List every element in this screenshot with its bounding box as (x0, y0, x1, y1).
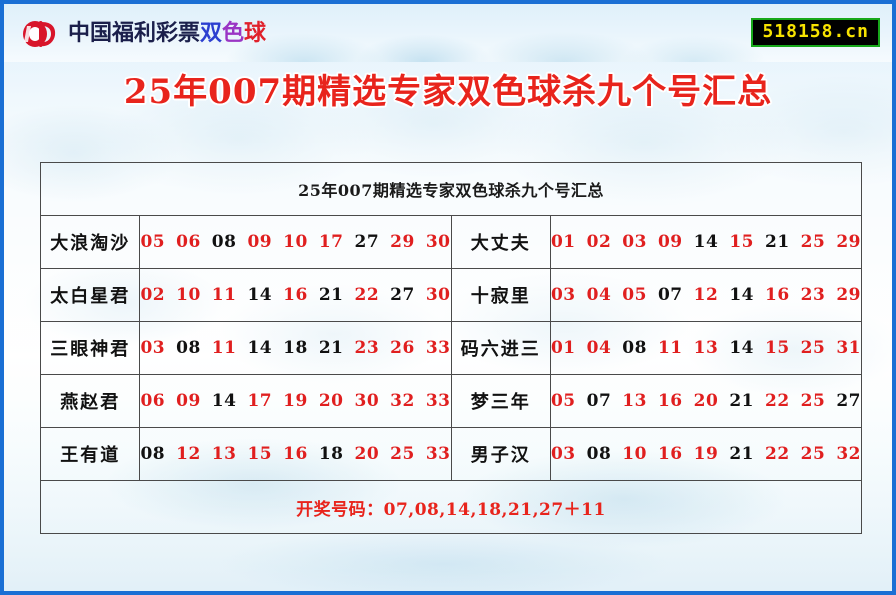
killed-number: 21 (319, 285, 344, 305)
number-list: 030405071214162329 (551, 285, 861, 305)
table-row: 三眼神君 030811141821232633 码六进三 01040811131… (41, 322, 862, 375)
killed-number: 23 (354, 338, 379, 358)
killed-number: 10 (622, 444, 647, 464)
killed-number: 20 (319, 391, 344, 411)
killed-numbers-cell: 050608091017272930 (140, 216, 451, 269)
expert-name: 大丈夫 (451, 216, 550, 269)
killed-number: 33 (426, 391, 451, 411)
killed-number: 18 (319, 444, 344, 464)
killed-numbers-cell: 010408111314152531 (550, 322, 861, 375)
table-row: 大浪淘沙 050608091017272930 大丈夫 010203091415… (41, 216, 862, 269)
killed-number: 21 (729, 444, 754, 464)
table-footer-row: 开奖号码：07,08,14,18,21,27＋11 (41, 481, 862, 534)
expert-name: 十寂里 (451, 269, 550, 322)
killed-number: 10 (283, 232, 308, 252)
killed-numbers-cell: 060914171920303233 (140, 375, 451, 428)
number-list: 021011141621222730 (140, 285, 450, 305)
killed-number: 02 (587, 232, 612, 252)
killed-number: 32 (836, 444, 861, 464)
china-welfare-lottery-emblem-icon (22, 18, 60, 50)
number-list: 010408111314152531 (551, 338, 861, 358)
killed-number: 05 (140, 232, 165, 252)
killed-number: 25 (801, 232, 826, 252)
killed-number: 16 (658, 444, 683, 464)
killed-numbers-cell: 021011141621222730 (140, 269, 451, 322)
killed-number: 20 (354, 444, 379, 464)
killed-number: 04 (587, 338, 612, 358)
forecast-table-body: 25年007期精选专家双色球杀九个号汇总 大浪淘沙 05060809101727… (41, 163, 862, 534)
killed-number: 32 (390, 391, 415, 411)
killed-number: 18 (283, 338, 308, 358)
killed-number: 27 (390, 285, 415, 305)
killed-number: 25 (801, 444, 826, 464)
killed-number: 22 (354, 285, 379, 305)
logo-text-se: 色 (222, 21, 244, 46)
number-list: 050713162021222527 (551, 391, 861, 411)
number-list: 081213151618202533 (140, 444, 450, 464)
table-row: 燕赵君 060914171920303233 梦三年 0507131620212… (41, 375, 862, 428)
number-list: 060914171920303233 (140, 391, 450, 411)
logo-text: 中国福利彩票双色球 (68, 23, 266, 45)
killed-numbers-cell: 030405071214162329 (550, 269, 861, 322)
site-logo[interactable]: 中国福利彩票双色球 (22, 18, 266, 50)
number-list: 030810161921222532 (551, 444, 861, 464)
killed-number: 25 (390, 444, 415, 464)
killed-number: 04 (587, 285, 612, 305)
logo-text-shuang: 双 (200, 21, 222, 46)
logo-text-qiu: 球 (244, 21, 266, 46)
killed-numbers-cell: 081213151618202533 (140, 428, 451, 481)
killed-number: 23 (801, 285, 826, 305)
table-row: 王有道 081213151618202533 男子汉 0308101619212… (41, 428, 862, 481)
expert-name: 大浪淘沙 (41, 216, 140, 269)
killed-number: 15 (765, 338, 790, 358)
killed-number: 08 (622, 338, 647, 358)
killed-number: 19 (694, 444, 719, 464)
killed-number: 16 (283, 285, 308, 305)
killed-number: 21 (319, 338, 344, 358)
killed-number: 27 (354, 232, 379, 252)
killed-number: 13 (694, 338, 719, 358)
killed-numbers-cell: 050713162021222527 (550, 375, 861, 428)
killed-number: 25 (801, 338, 826, 358)
page-root: 中国福利彩票双色球 518158.cn 25年007期精选专家双色球杀九个号汇总… (0, 0, 896, 595)
killed-number: 21 (765, 232, 790, 252)
killed-number: 33 (426, 338, 451, 358)
killed-number: 19 (283, 391, 308, 411)
killed-number: 11 (212, 285, 237, 305)
killed-number: 26 (390, 338, 415, 358)
killed-number: 31 (836, 338, 861, 358)
killed-number: 05 (622, 285, 647, 305)
killed-number: 06 (140, 391, 165, 411)
killed-number: 16 (283, 444, 308, 464)
killed-number: 07 (658, 285, 683, 305)
killed-number: 29 (836, 285, 861, 305)
killed-number: 14 (729, 285, 754, 305)
killed-number: 33 (426, 444, 451, 464)
expert-name: 三眼神君 (41, 322, 140, 375)
expert-name: 太白星君 (41, 269, 140, 322)
killed-number: 09 (247, 232, 272, 252)
killed-number: 20 (694, 391, 719, 411)
killed-numbers-cell: 030811141821232633 (140, 322, 451, 375)
killed-number: 22 (765, 444, 790, 464)
results-table-container: 25年007期精选专家双色球杀九个号汇总 大浪淘沙 05060809101727… (40, 162, 862, 534)
table-caption-row: 25年007期精选专家双色球杀九个号汇总 (41, 163, 862, 216)
site-url-badge[interactable]: 518158.cn (751, 18, 880, 47)
killed-number: 07 (587, 391, 612, 411)
killed-number: 14 (247, 285, 272, 305)
killed-number: 11 (658, 338, 683, 358)
expert-name: 码六进三 (451, 322, 550, 375)
killed-number: 08 (176, 338, 201, 358)
killed-number: 25 (801, 391, 826, 411)
killed-number: 29 (390, 232, 415, 252)
killed-number: 03 (140, 338, 165, 358)
expert-name: 王有道 (41, 428, 140, 481)
killed-number: 14 (694, 232, 719, 252)
forecast-table: 25年007期精选专家双色球杀九个号汇总 大浪淘沙 05060809101727… (40, 162, 862, 534)
killed-number: 17 (247, 391, 272, 411)
killed-number: 30 (426, 285, 451, 305)
killed-number: 16 (658, 391, 683, 411)
killed-number: 30 (426, 232, 451, 252)
logo-text-cn: 中国福利彩票 (68, 21, 200, 46)
killed-number: 13 (622, 391, 647, 411)
killed-number: 01 (551, 232, 576, 252)
killed-number: 01 (551, 338, 576, 358)
table-caption: 25年007期精选专家双色球杀九个号汇总 (41, 163, 862, 216)
killed-number: 22 (765, 391, 790, 411)
expert-name: 男子汉 (451, 428, 550, 481)
killed-number: 10 (176, 285, 201, 305)
expert-name: 梦三年 (451, 375, 550, 428)
number-list: 030811141821232633 (140, 338, 450, 358)
page-title: 25年007期精选专家双色球杀九个号汇总 (4, 64, 892, 113)
killed-number: 03 (551, 285, 576, 305)
killed-number: 08 (587, 444, 612, 464)
killed-number: 17 (319, 232, 344, 252)
killed-number: 13 (212, 444, 237, 464)
killed-number: 02 (140, 285, 165, 305)
killed-number: 14 (212, 391, 237, 411)
killed-number: 16 (765, 285, 790, 305)
killed-number: 11 (212, 338, 237, 358)
killed-numbers-cell: 030810161921222532 (550, 428, 861, 481)
killed-number: 15 (247, 444, 272, 464)
number-list: 010203091415212529 (551, 232, 861, 252)
killed-number: 03 (551, 444, 576, 464)
killed-number: 27 (836, 391, 861, 411)
killed-number: 09 (658, 232, 683, 252)
killed-number: 05 (551, 391, 576, 411)
killed-numbers-cell: 010203091415212529 (550, 216, 861, 269)
table-row: 太白星君 021011141621222730 十寂里 030405071214… (41, 269, 862, 322)
killed-number: 14 (247, 338, 272, 358)
killed-number: 12 (176, 444, 201, 464)
expert-name: 燕赵君 (41, 375, 140, 428)
killed-number: 21 (729, 391, 754, 411)
killed-number: 14 (729, 338, 754, 358)
killed-number: 08 (212, 232, 237, 252)
killed-number: 12 (694, 285, 719, 305)
winning-numbers: 开奖号码：07,08,14,18,21,27＋11 (41, 481, 862, 534)
killed-number: 30 (354, 391, 379, 411)
site-header: 中国福利彩票双色球 518158.cn (4, 4, 892, 62)
killed-number: 09 (176, 391, 201, 411)
killed-number: 08 (140, 444, 165, 464)
number-list: 050608091017272930 (140, 232, 450, 252)
killed-number: 06 (176, 232, 201, 252)
killed-number: 29 (836, 232, 861, 252)
killed-number: 15 (729, 232, 754, 252)
killed-number: 03 (622, 232, 647, 252)
